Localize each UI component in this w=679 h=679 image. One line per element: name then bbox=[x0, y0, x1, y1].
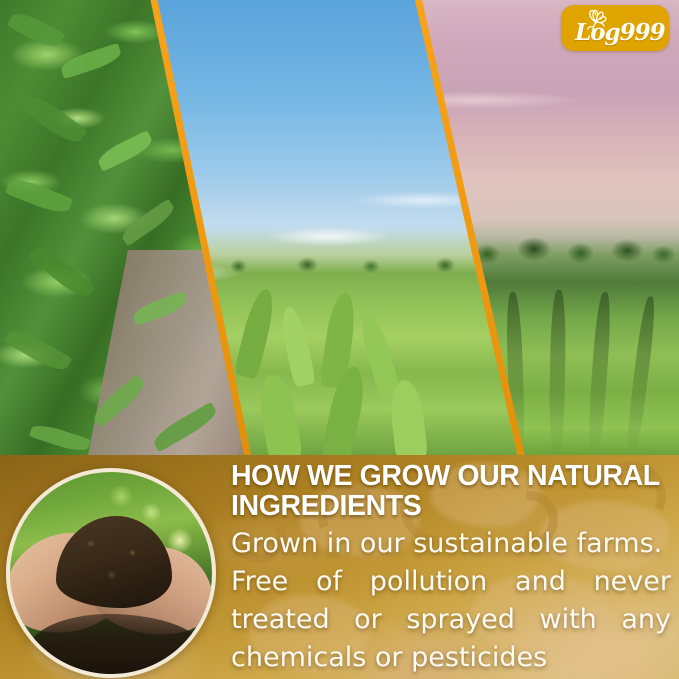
headline-line-2: INGREDIENTS bbox=[231, 490, 421, 522]
body-word: pollution bbox=[370, 563, 488, 601]
leaf-shape bbox=[95, 130, 155, 172]
body-line-1: Grown in our sustainable farms. bbox=[231, 525, 671, 563]
leaf-shape bbox=[5, 174, 74, 217]
brand-logo-badge[interactable]: Log999 bbox=[561, 5, 669, 51]
tea-row bbox=[549, 290, 567, 455]
turmeric-leaf bbox=[233, 286, 278, 379]
leaf-shape bbox=[28, 241, 96, 303]
leaf-shape bbox=[29, 421, 91, 455]
leaf-shape bbox=[18, 90, 88, 149]
body-line-2: Free of pollution and never bbox=[231, 563, 671, 601]
photo-strip bbox=[0, 0, 679, 455]
body-line-3: treated or sprayed with any bbox=[231, 601, 671, 639]
tea-row bbox=[624, 296, 657, 455]
body-word: of bbox=[316, 563, 342, 601]
body-word: any bbox=[621, 601, 671, 639]
leaf-shape bbox=[7, 8, 66, 52]
body-word: with bbox=[540, 601, 597, 639]
body-word: and bbox=[515, 563, 566, 601]
turmeric-leaf bbox=[388, 379, 428, 455]
body-word: Free bbox=[231, 563, 288, 601]
leaf-shape bbox=[118, 199, 177, 247]
turmeric-leaf bbox=[278, 305, 316, 388]
headline-line-1: HOW WE GROW OUR NATURAL bbox=[231, 460, 660, 492]
body-word: never bbox=[594, 563, 671, 601]
tea-row bbox=[586, 292, 612, 455]
feature-text-block: HOW WE GROW OUR NATURAL INGREDIENTS Grow… bbox=[231, 461, 671, 677]
turmeric-leaf bbox=[357, 311, 402, 400]
hands-holding-soil-image bbox=[6, 468, 216, 678]
leaf-shape bbox=[59, 43, 124, 79]
body-word: or bbox=[354, 601, 382, 639]
body-word: sprayed bbox=[406, 601, 515, 639]
soil-mound bbox=[56, 516, 172, 608]
body-word: treated bbox=[231, 601, 330, 639]
brand-logo-text: Log999 bbox=[575, 21, 669, 45]
product-infographic: HOW WE GROW OUR NATURAL INGREDIENTS Grow… bbox=[0, 0, 679, 679]
body-line-4: chemicals or pesticides bbox=[231, 639, 671, 677]
feature-body-copy: Grown in our sustainable farms. Free of … bbox=[231, 525, 671, 677]
page-title: HOW WE GROW OUR NATURAL INGREDIENTS bbox=[231, 461, 671, 521]
leaf-shape bbox=[4, 324, 73, 375]
